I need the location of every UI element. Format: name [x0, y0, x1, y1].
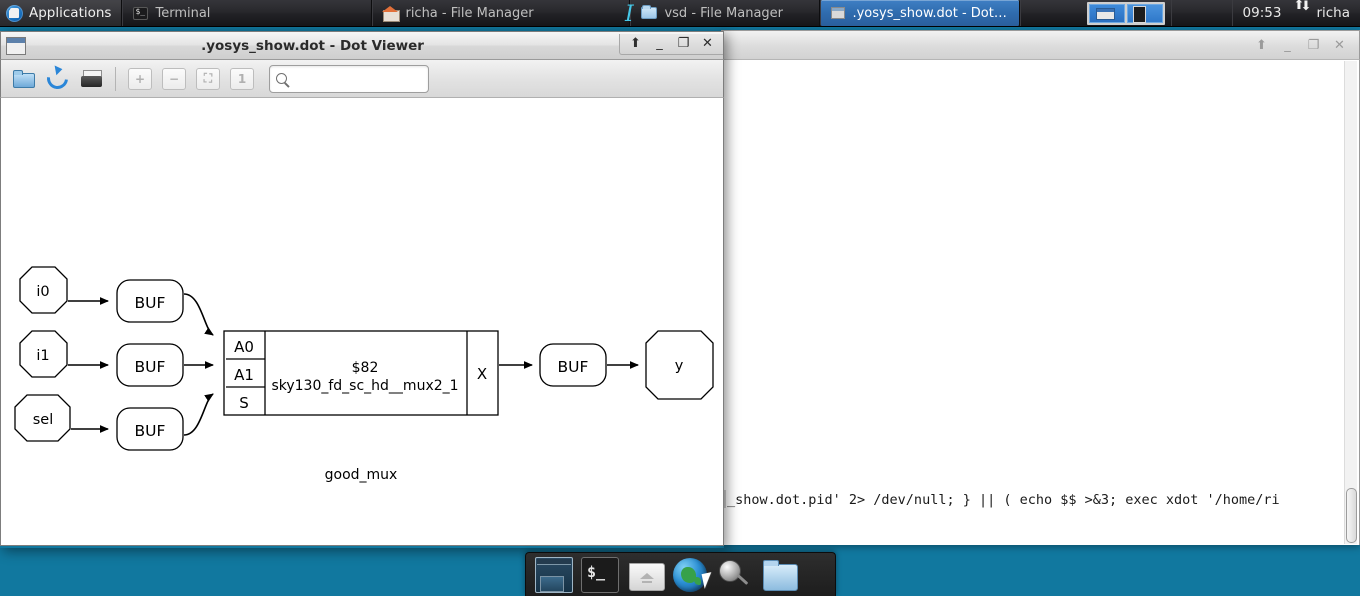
applications-label: Applications — [29, 5, 111, 21]
show-desktop-icon[interactable] — [535, 557, 573, 593]
folder-icon — [641, 7, 657, 19]
taskbar-item-richa-file-manager[interactable]: richa - File Manager — [372, 0, 630, 26]
cell-port-a1-label: A1 — [234, 366, 254, 384]
user-menu-button[interactable]: richa — [1314, 0, 1360, 26]
cell-port-a0-label: A0 — [234, 338, 254, 356]
search-box[interactable] — [269, 65, 429, 93]
zoom-out-label: − — [169, 72, 179, 86]
dot-viewer-titlebar[interactable]: .yosys_show.dot - Dot Viewer ⬆ _ ❐ ✕ — [0, 31, 724, 60]
open-folder-icon — [13, 71, 33, 86]
graph-svg: i0 i1 sel BUF BUF BUF — [1, 98, 724, 546]
print-icon — [81, 70, 102, 88]
fit-icon: ⛶ — [196, 68, 220, 90]
background-terminal-body[interactable]: _show.dot.pid' 2> /dev/null; } || ( echo… — [722, 60, 1359, 545]
search-icon — [276, 73, 287, 84]
node-i1-label: i1 — [36, 348, 49, 364]
home-folder-icon — [383, 6, 398, 20]
reload-icon — [42, 64, 71, 93]
terminal-command-line: _show.dot.pid' 2> /dev/null; } || ( echo… — [727, 492, 1354, 508]
edge-buf-s — [184, 394, 213, 435]
zoom-fit-button[interactable]: ⛶ — [192, 64, 224, 94]
panel-spacer-left — [1020, 0, 1081, 26]
taskbar-item-label: richa - File Manager — [405, 6, 533, 21]
maximize-button[interactable]: ❐ — [677, 37, 690, 50]
cluster-label: good_mux — [325, 467, 398, 483]
taskbar-item-label: Terminal — [155, 6, 210, 21]
plus-icon: + — [128, 68, 152, 90]
window-title: .yosys_show.dot - Dot Viewer — [6, 38, 619, 54]
cell-port-x-label: X — [477, 365, 487, 383]
print-button[interactable] — [75, 64, 107, 94]
cell-port-s-label: S — [239, 394, 249, 412]
cell-id-label: $82 — [352, 360, 379, 376]
search-input[interactable] — [292, 71, 462, 86]
zoom-100-label: 1 — [238, 72, 246, 86]
terminal-icon — [133, 7, 148, 20]
clock[interactable]: 09:53 — [1232, 0, 1288, 26]
bottom-dock — [525, 552, 836, 596]
node-buf-y-label: BUF — [558, 358, 589, 376]
workspace-1[interactable] — [1089, 4, 1125, 23]
network-updown-icon[interactable] — [1293, 0, 1310, 17]
zoom-100-button[interactable]: 1 — [226, 64, 258, 94]
node-i0-label: i0 — [36, 284, 49, 300]
node-sel-label: sel — [33, 412, 54, 428]
applications-menu-button[interactable]: Applications — [0, 0, 122, 26]
taskbar-item-label: .yosys_show.dot - Dot V... — [852, 6, 1009, 21]
top-panel: Applications Terminal richa - File Manag… — [0, 0, 1360, 27]
workspace-2[interactable] — [1127, 4, 1163, 23]
taskbar-item-vsd-file-manager[interactable]: vsd - File Manager — [630, 0, 820, 26]
zoom-in-label: + — [135, 72, 145, 86]
node-y-label: y — [675, 358, 684, 374]
minimize-button[interactable]: _ — [653, 37, 666, 50]
node-buf-sel-label: BUF — [135, 422, 166, 440]
terminal-scrollbar-thumb[interactable] — [1346, 488, 1357, 543]
edge-buf-a0 — [184, 294, 213, 335]
user-label: richa — [1316, 5, 1350, 21]
background-window-controls: ⬆ _ ❐ ✕ — [1255, 39, 1359, 52]
minimize-button[interactable]: _ — [1281, 39, 1294, 52]
workspace-switcher[interactable] — [1087, 2, 1165, 25]
background-window-titlebar[interactable]: ⬆ _ ❐ ✕ — [721, 30, 1360, 60]
panel-spacer-right — [1171, 0, 1232, 26]
applications-icon — [6, 5, 23, 22]
toolbar-separator — [115, 67, 116, 91]
window-icon — [831, 7, 845, 19]
text-cursor-icon: I — [625, 4, 634, 26]
terminal-icon[interactable] — [581, 557, 619, 593]
dot-viewer-window-controls: ⬆ _ ❐ ✕ — [619, 34, 723, 55]
dot-viewer-toolbar: + − ⛶ 1 — [0, 60, 724, 98]
home-folder-icon[interactable] — [627, 557, 665, 593]
file-manager-icon[interactable] — [761, 557, 799, 593]
close-button[interactable]: ✕ — [1333, 39, 1346, 52]
workspace-window-preview — [1096, 8, 1115, 20]
magnifier-icon[interactable] — [715, 557, 753, 593]
clock-label: 09:53 — [1243, 5, 1282, 21]
node-buf-i1-label: BUF — [135, 358, 166, 376]
zoom-in-button[interactable]: + — [124, 64, 156, 94]
graph-canvas[interactable]: i0 i1 sel BUF BUF BUF — [0, 98, 724, 546]
zoom-out-button[interactable]: − — [158, 64, 190, 94]
maximize-button[interactable]: ❐ — [1307, 39, 1320, 52]
taskbar-item-dot-viewer[interactable]: .yosys_show.dot - Dot V... — [820, 0, 1020, 26]
taskbar-item-label: vsd - File Manager — [664, 6, 783, 21]
cell-type-label: sky130_fd_sc_hd__mux2_1 — [271, 378, 458, 394]
one-to-one-icon: 1 — [230, 68, 254, 90]
dot-viewer-window: .yosys_show.dot - Dot Viewer ⬆ _ ❐ ✕ + −… — [0, 31, 724, 548]
close-button[interactable]: ✕ — [701, 37, 714, 50]
minus-icon: − — [162, 68, 186, 90]
zoom-fit-label: ⛶ — [204, 71, 212, 86]
reload-button[interactable] — [41, 64, 73, 94]
shade-button[interactable]: ⬆ — [629, 37, 642, 50]
open-button[interactable] — [7, 64, 39, 94]
app-window-icon — [6, 37, 26, 55]
terminal-scrollbar-track[interactable] — [1344, 61, 1357, 544]
terminal-left-edge — [724, 490, 726, 508]
workspace-window-preview — [1133, 6, 1146, 23]
shade-button[interactable]: ⬆ — [1255, 39, 1268, 52]
taskbar-item-terminal[interactable]: Terminal — [122, 0, 372, 26]
node-buf-i0-label: BUF — [135, 294, 166, 312]
